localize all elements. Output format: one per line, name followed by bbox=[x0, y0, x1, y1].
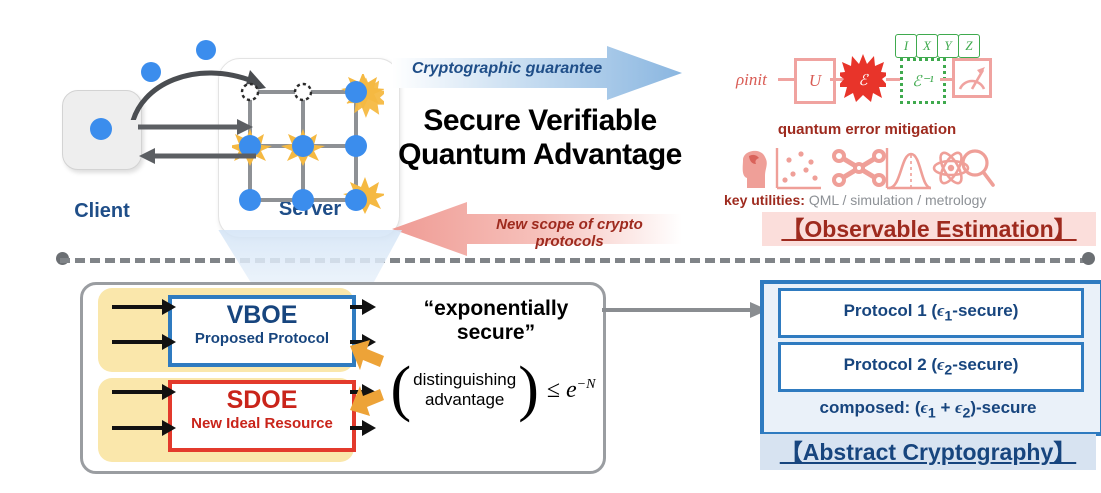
bound-expression: ≤ e−N bbox=[547, 377, 596, 404]
protocol-2-box[interactable]: Protocol 2 (ϵ2-secure) bbox=[778, 342, 1084, 392]
new-scope-arrow: New scope of crypto protocols bbox=[392, 202, 682, 256]
key-utilities-icons bbox=[735, 146, 995, 190]
observable-estimation-banner: 【Observable Estimation】 bbox=[762, 212, 1096, 246]
page-title: Secure Verifiable Quantum Advantage bbox=[380, 104, 700, 171]
exp-base: e bbox=[566, 377, 577, 403]
client-label: Client bbox=[52, 200, 152, 223]
wire-segment bbox=[778, 78, 794, 81]
gate-u: U bbox=[794, 58, 836, 104]
formula-line-2: advantage bbox=[425, 390, 504, 409]
pauli-x-gate: X bbox=[916, 34, 938, 58]
title-line-1: Secure Verifiable bbox=[380, 104, 700, 138]
noise-channel-star-icon: ℰ bbox=[840, 54, 886, 102]
security-bound-formula: ( distinguishing advantage ) ≤ e−N bbox=[378, 355, 608, 425]
new-scope-label: New scope of crypto protocols bbox=[462, 216, 677, 250]
abstract-cryptography-label: 【Abstract Cryptography】 bbox=[760, 434, 1096, 470]
key-utilities-items: QML / simulation / metrology bbox=[809, 192, 987, 208]
client-server-arrows-icon bbox=[138, 118, 258, 174]
diagram-canvas: Client Server bbox=[0, 0, 1101, 493]
inverse-channel-gate: ℰ⁻¹ bbox=[900, 58, 946, 104]
formula-line-1: distinguishing bbox=[413, 370, 516, 389]
observable-estimation-label: 【Observable Estimation】 bbox=[762, 212, 1096, 246]
panel-connector-arrow bbox=[600, 296, 780, 326]
quantum-circuit-diagram: ρinit U ℰ I X Y Z ℰ⁻¹ bbox=[740, 52, 990, 118]
composed-security-label: composed: (ϵ1 + ϵ2)-secure bbox=[760, 398, 1096, 421]
protocol-2-label: Protocol 2 (ϵ2-secure) bbox=[844, 355, 1019, 378]
pauli-z-gate: Z bbox=[958, 34, 980, 58]
wire-segment bbox=[940, 78, 952, 81]
title-line-2: Quantum Advantage bbox=[380, 138, 700, 172]
key-utilities-label: key utilities: bbox=[724, 192, 805, 208]
left-paren: ( bbox=[391, 365, 412, 415]
divider-dot-right bbox=[1082, 252, 1095, 265]
key-utilities-caption: key utilities: QML / simulation / metrol… bbox=[724, 192, 986, 208]
io-arrows-icon bbox=[110, 288, 380, 458]
protocol-1-box[interactable]: Protocol 1 (ϵ1-secure) bbox=[778, 288, 1084, 338]
abstract-cryptography-banner: 【Abstract Cryptography】 bbox=[760, 434, 1096, 470]
rho-init-label: ρinit bbox=[736, 70, 767, 90]
cryptographic-guarantee-label: Cryptographic guarantee bbox=[402, 60, 612, 78]
distinguishing-advantage-text: distinguishing advantage bbox=[411, 370, 518, 409]
pauli-y-gate: Y bbox=[937, 34, 959, 58]
wire-segment bbox=[886, 78, 900, 81]
right-paren: ) bbox=[518, 365, 539, 415]
exp-exponent: −N bbox=[577, 377, 596, 392]
cryptographic-guarantee-arrow: Cryptographic guarantee bbox=[392, 46, 682, 100]
qem-caption: quantum error mitigation bbox=[742, 121, 992, 138]
leq-symbol: ≤ bbox=[547, 377, 560, 403]
client-qubit-icon bbox=[90, 118, 112, 140]
pauli-i-gate: I bbox=[895, 34, 917, 58]
exponentially-secure-label: “exponentially secure” bbox=[386, 297, 606, 345]
section-divider bbox=[60, 258, 1090, 263]
protocol-1-label: Protocol 1 (ϵ1-secure) bbox=[844, 301, 1019, 324]
measurement-meter-icon bbox=[952, 58, 992, 98]
